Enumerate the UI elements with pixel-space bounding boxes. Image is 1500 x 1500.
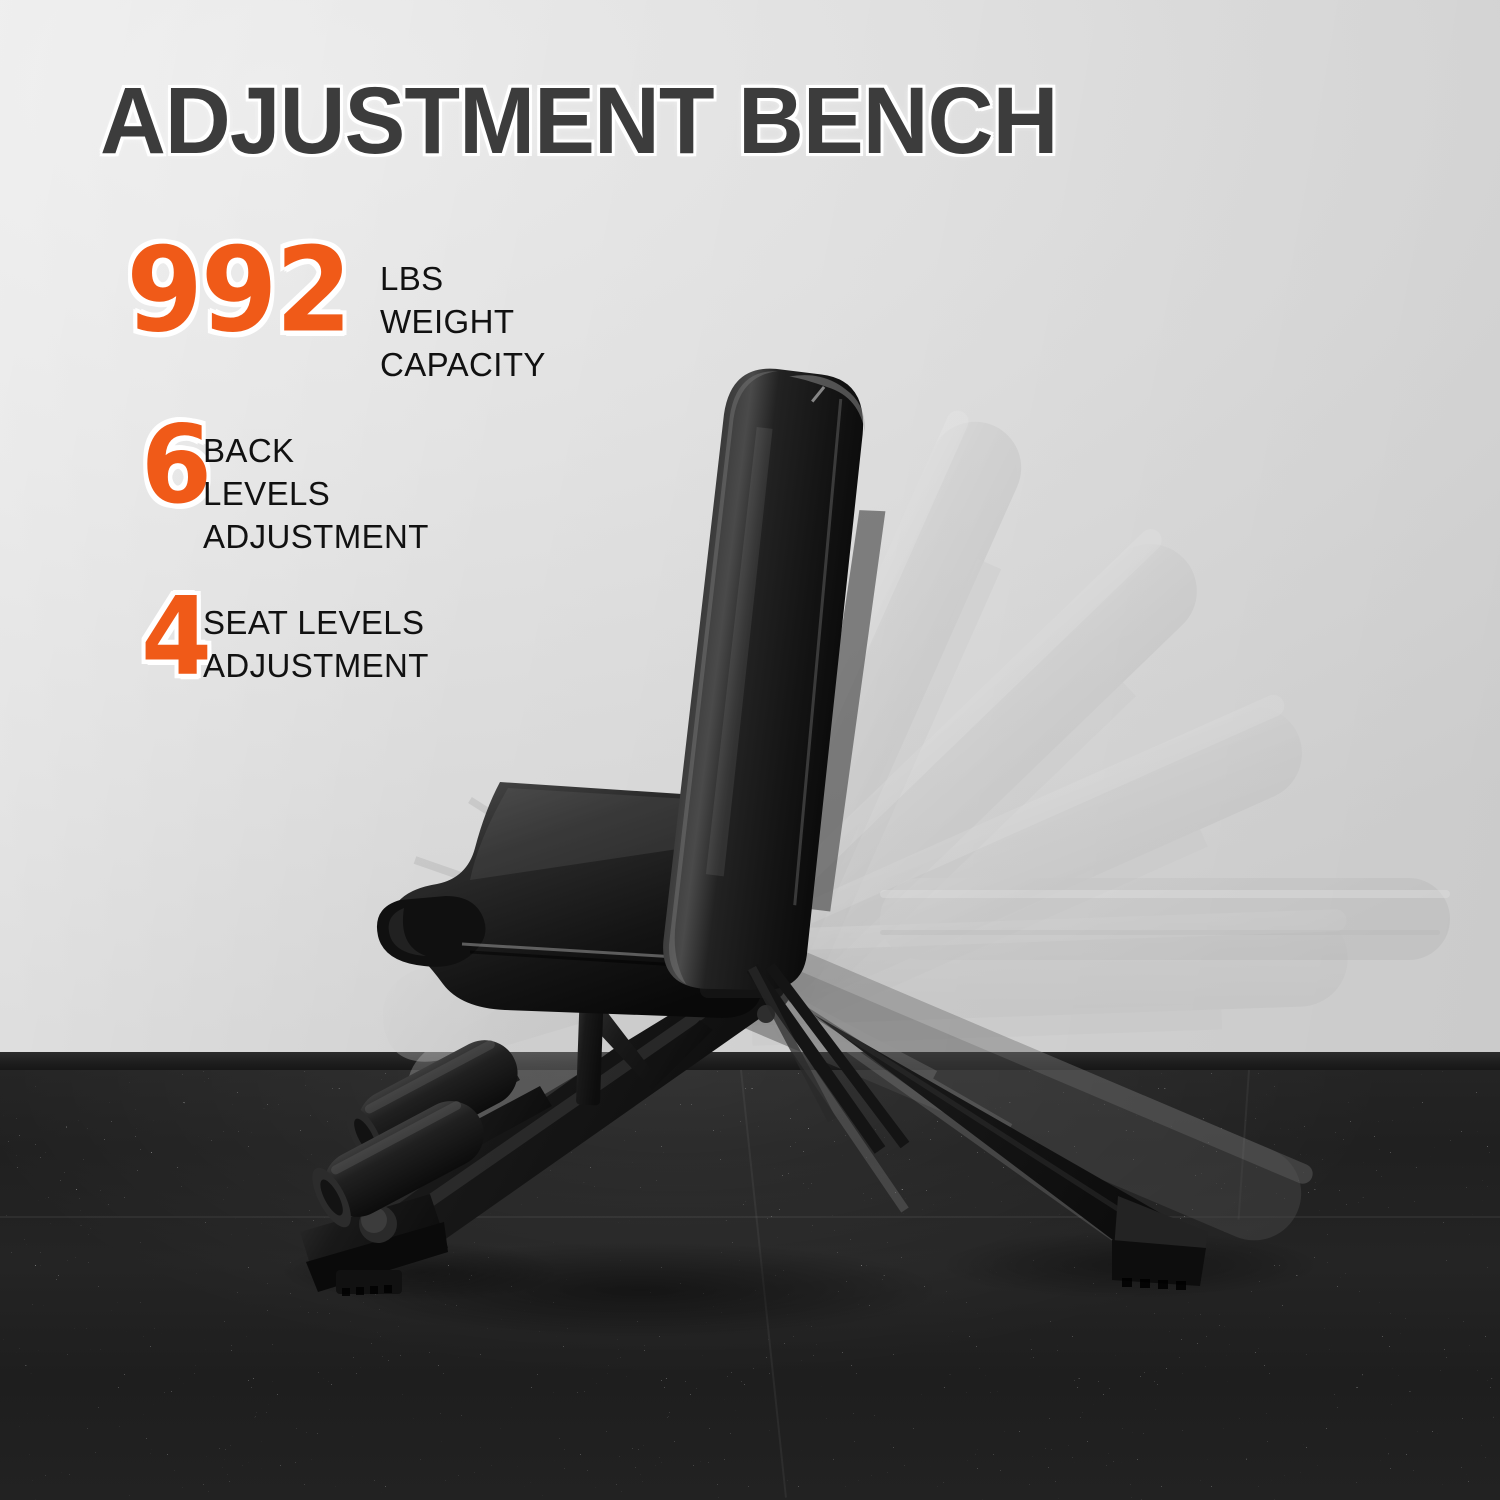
stat-number: 4 [95,584,210,692]
stat-number: 6 [95,412,210,520]
stat-label: BACK LEVELS ADJUSTMENT [203,430,429,559]
stat-number: 992 [95,232,350,349]
page-title: ADJUSTMENT BENCH [100,74,1057,169]
product-marketing-image: ADJUSTMENT BENCH 992 LBS WEIGHT CAPACITY… [0,0,1500,1500]
stat-label: SEAT LEVELS ADJUSTMENT [203,602,429,688]
stat-label: LBS WEIGHT CAPACITY [380,258,546,387]
ghost-flat-bench-pad [880,878,1450,960]
